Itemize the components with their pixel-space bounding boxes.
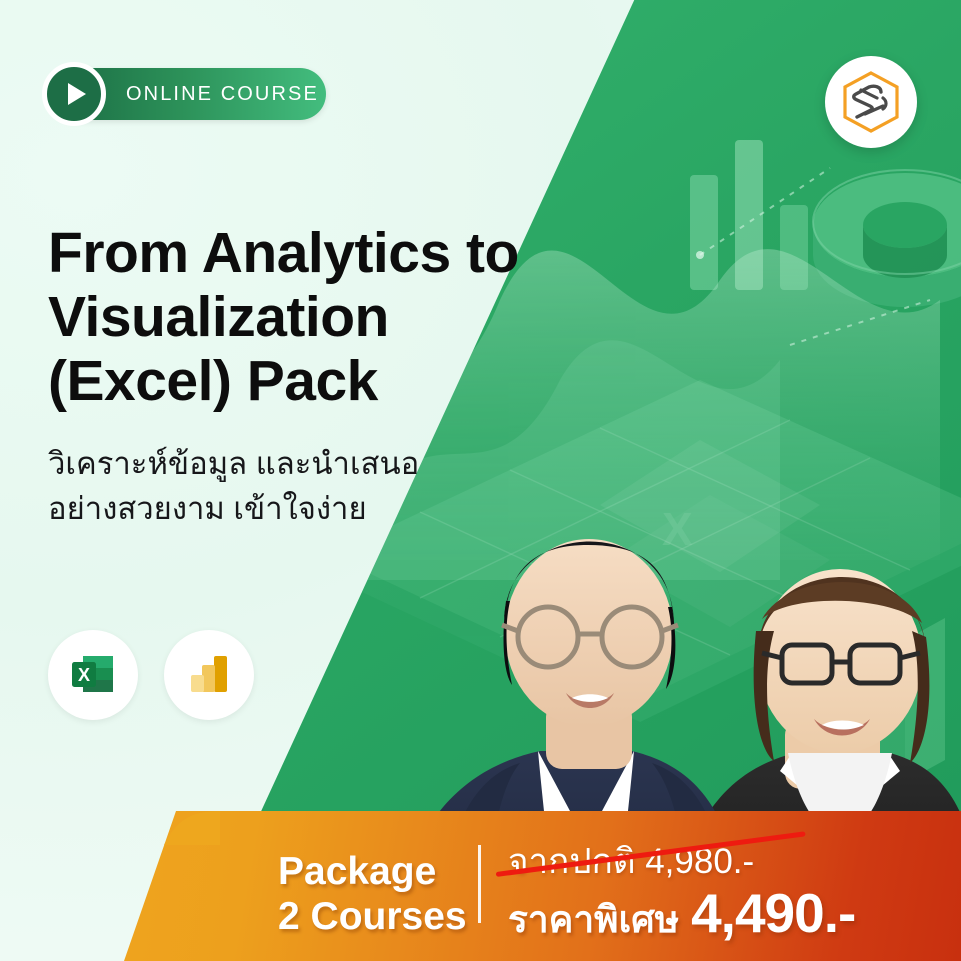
package-label: Package 2 Courses <box>278 849 467 939</box>
new-price-label: ราคาพิเศษ <box>508 890 679 949</box>
headline-line-1: From Analytics to <box>48 222 568 286</box>
decor-dot <box>696 251 704 259</box>
package-line-2: 2 Courses <box>278 894 467 939</box>
microsoft-power-bi-icon <box>164 630 254 720</box>
online-course-badge-label: ONLINE COURSE <box>126 83 319 106</box>
app-icons-row: X <box>48 630 254 720</box>
package-line-1: Package <box>278 849 467 894</box>
new-price-value: 4,490.- <box>691 881 855 945</box>
price-divider <box>478 845 481 923</box>
course-promo-banner: X ONLINE COURSE <box>0 0 961 961</box>
price-banner-corner <box>150 811 220 845</box>
brand-logo-icon <box>825 56 917 148</box>
play-icon <box>42 62 106 126</box>
new-price: ราคาพิเศษ 4,490.- <box>508 881 855 949</box>
microsoft-excel-icon: X <box>48 630 138 720</box>
svg-text:X: X <box>78 665 90 685</box>
online-course-badge[interactable]: ONLINE COURSE <box>48 68 326 120</box>
